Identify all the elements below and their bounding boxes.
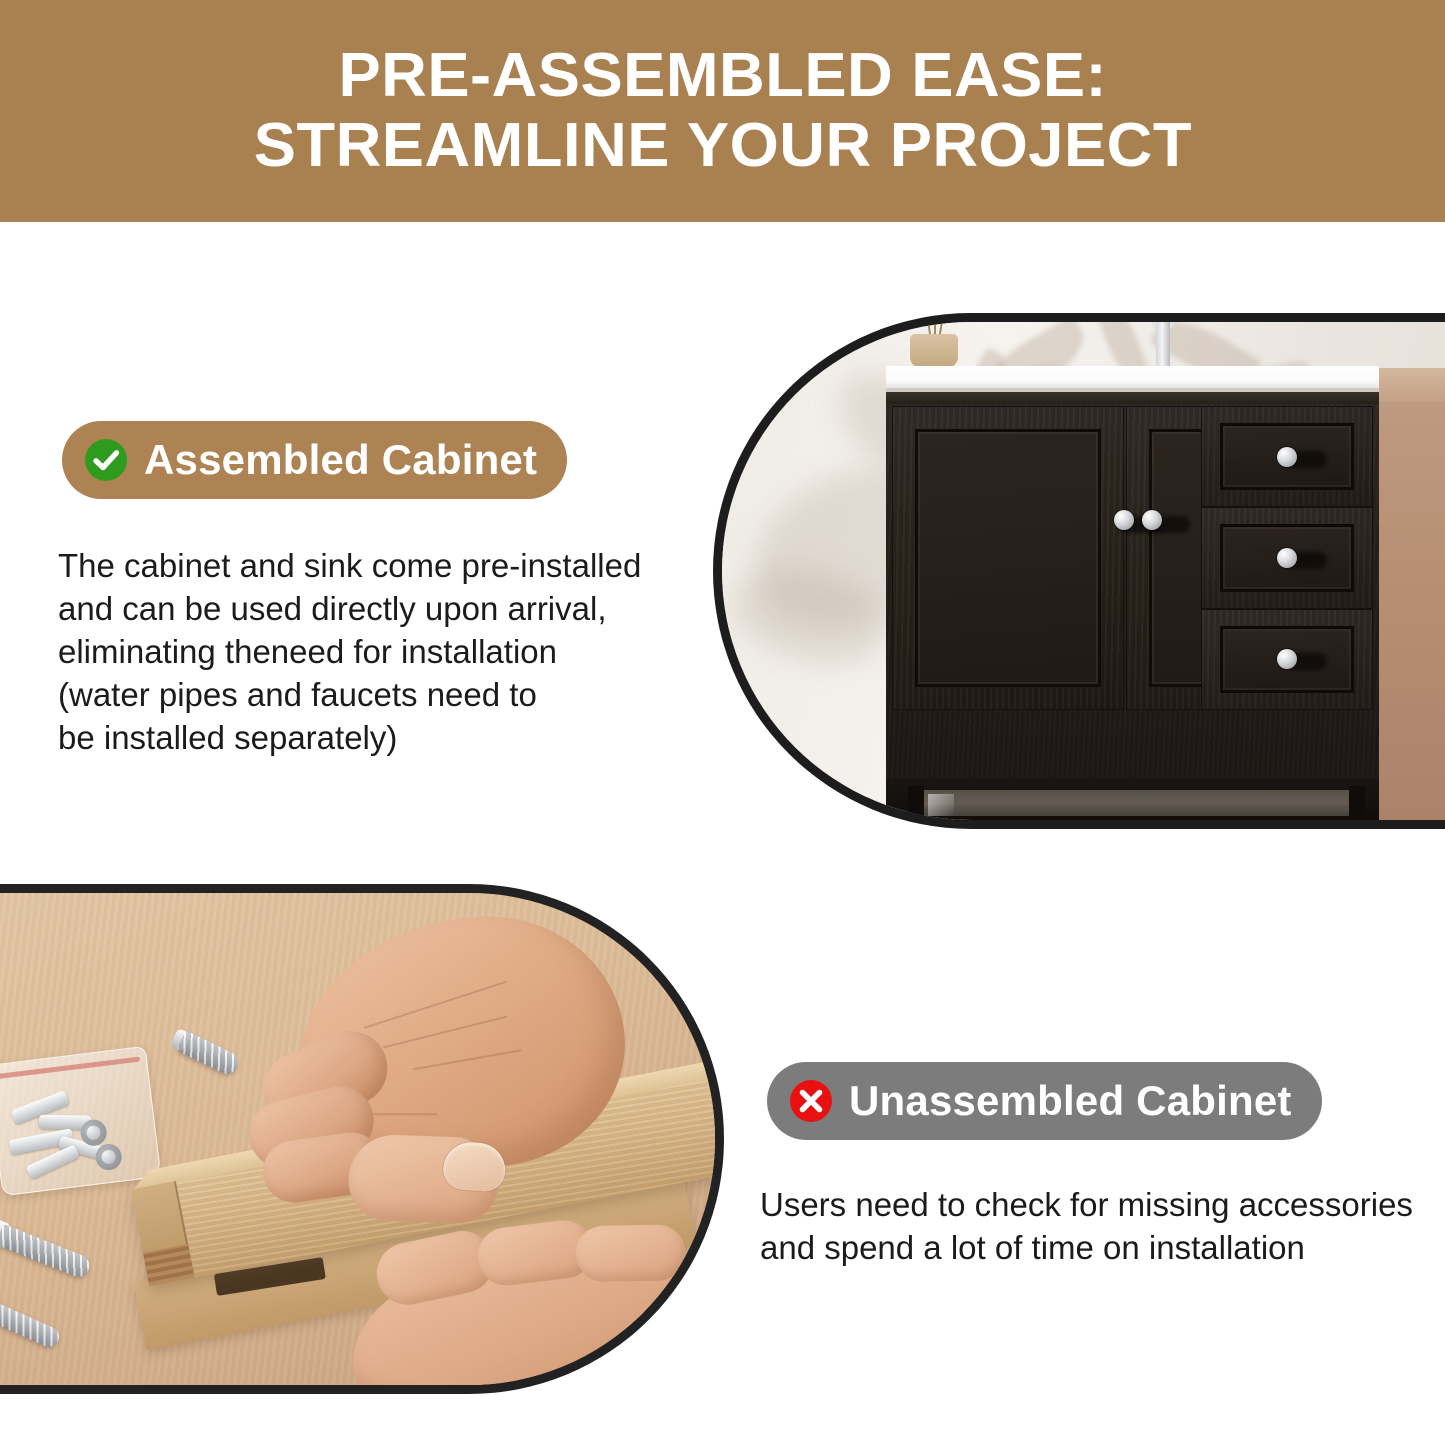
decor-stems [925,313,945,336]
header-title-line-2: STREAMLINE YOUR PROJECT [253,111,1191,181]
door-panel [915,429,1101,687]
assembled-cabinet-photo [713,313,1445,829]
bag-zip-seal [0,1057,140,1080]
drawer-knob [1277,548,1297,568]
unassembled-cabinet-badge[interactable]: Unassembled Cabinet [767,1062,1322,1140]
side-wall [1379,368,1445,820]
header-banner: PRE-ASSEMBLED EASE: STREAMLINE YOUR PROJ… [0,0,1445,222]
hardware-bag [0,1046,161,1197]
cabinet-door-left [892,406,1124,710]
door-knob-left [1114,510,1134,530]
cabinet-top-rail [886,392,1379,404]
cabinet-scene [722,322,1445,820]
header-title-line-1: PRE-ASSEMBLED EASE: [338,41,1107,111]
assembled-cabinet-badge[interactable]: Assembled Cabinet [62,421,567,499]
drawer-knob [1277,447,1297,467]
hand-gripping-plank [202,892,654,1264]
washer [94,1143,123,1172]
assembly-scene [0,893,715,1385]
drawer-top [1201,406,1373,507]
knuckle [575,1224,686,1282]
hand-supporting-board [344,1209,724,1394]
unassembled-cabinet-description: Users need to check for missing accessor… [760,1184,1440,1270]
drawer-bottom [1201,609,1373,710]
door-knob-right [1142,510,1162,530]
decor-pot [910,334,958,368]
drawer-stack [1201,406,1373,710]
cabinet-leg-right [1349,786,1365,820]
unassembled-cabinet-badge-label: Unassembled Cabinet [849,1077,1292,1125]
assembled-cabinet-description: The cabinet and sink come pre-installed … [58,545,698,759]
drawer-middle [1201,507,1373,608]
faucet [1156,320,1170,372]
unassembled-cabinet-photo [0,884,724,1394]
x-circle-icon [789,1079,833,1123]
cabinet-leg-left [908,786,924,820]
cabinet-body [886,392,1379,778]
check-circle-icon [84,438,128,482]
floor-reflection [918,790,1349,816]
assembled-cabinet-badge-label: Assembled Cabinet [144,436,537,484]
infographic-page: PRE-ASSEMBLED EASE: STREAMLINE YOUR PROJ… [0,0,1445,1445]
floor-highlight [928,794,954,816]
